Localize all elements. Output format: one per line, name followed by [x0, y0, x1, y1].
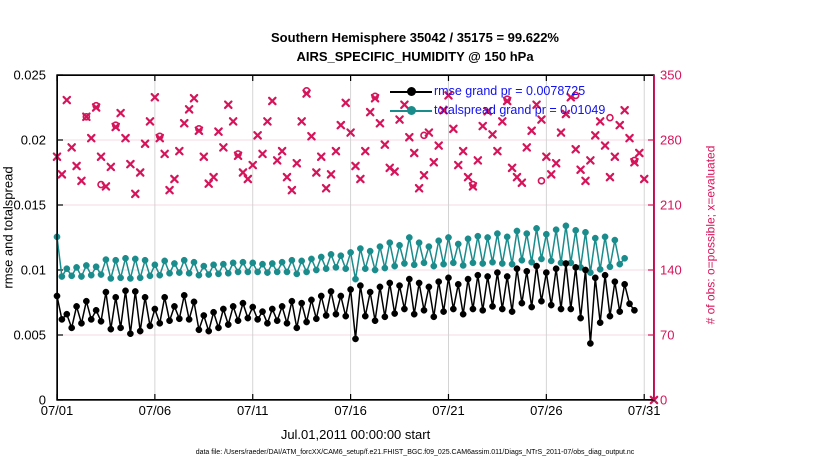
- plot-area: [57, 75, 654, 400]
- y-tick-right-4: 280: [660, 133, 682, 148]
- x-tick-0: 07/01: [41, 403, 74, 418]
- y-tick-right-2: 140: [660, 263, 682, 278]
- x-tick-1: 07/06: [139, 403, 172, 418]
- figure-root: Southern Hemisphere 35042 / 35175 = 99.6…: [0, 0, 830, 470]
- x-tick-4: 07/21: [432, 403, 465, 418]
- legend-swatch-totalspread: [390, 110, 432, 112]
- data-file-footer: data file: /Users/raeder/DAI/ATM_forcXX/…: [0, 449, 830, 456]
- legend-item-totalspread: totalspread grand pr = 0.01049: [390, 101, 655, 120]
- legend-swatch-rmse: [390, 91, 432, 93]
- y-tick-left-3: 0.015: [13, 198, 52, 213]
- y-tick-right-5: 350: [660, 68, 682, 83]
- x-tick-2: 07/11: [237, 403, 269, 418]
- y-tick-left-2: 0.01: [21, 263, 52, 278]
- x-tick-3: 07/16: [334, 403, 367, 418]
- x-tick-5: 07/26: [530, 403, 563, 418]
- legend-item-rmse: rmse grand pr = 0.0078725: [390, 82, 655, 101]
- x-axis-ticks: 07/0107/0607/1107/1607/2107/2607/31: [0, 403, 830, 423]
- y-tick-left-4: 0.02: [21, 133, 52, 148]
- y-axis-left-ticks: 00.0050.010.0150.020.025: [0, 0, 52, 470]
- x-tick-6: 07/31: [628, 403, 661, 418]
- y-tick-right-1: 70: [660, 328, 674, 343]
- y-tick-left-5: 0.025: [13, 68, 52, 83]
- x-axis-label: Jul.01,2011 00:00:00 start: [57, 427, 654, 442]
- y-axis-right-ticks: 070140210280350: [660, 0, 720, 470]
- y-tick-left-1: 0.005: [13, 328, 52, 343]
- legend-label-totalspread: totalspread grand pr = 0.01049: [434, 101, 605, 120]
- y-tick-right-3: 210: [660, 198, 682, 213]
- legend-label-rmse: rmse grand pr = 0.0078725: [434, 82, 585, 101]
- legend: rmse grand pr = 0.0078725 totalspread gr…: [390, 82, 655, 120]
